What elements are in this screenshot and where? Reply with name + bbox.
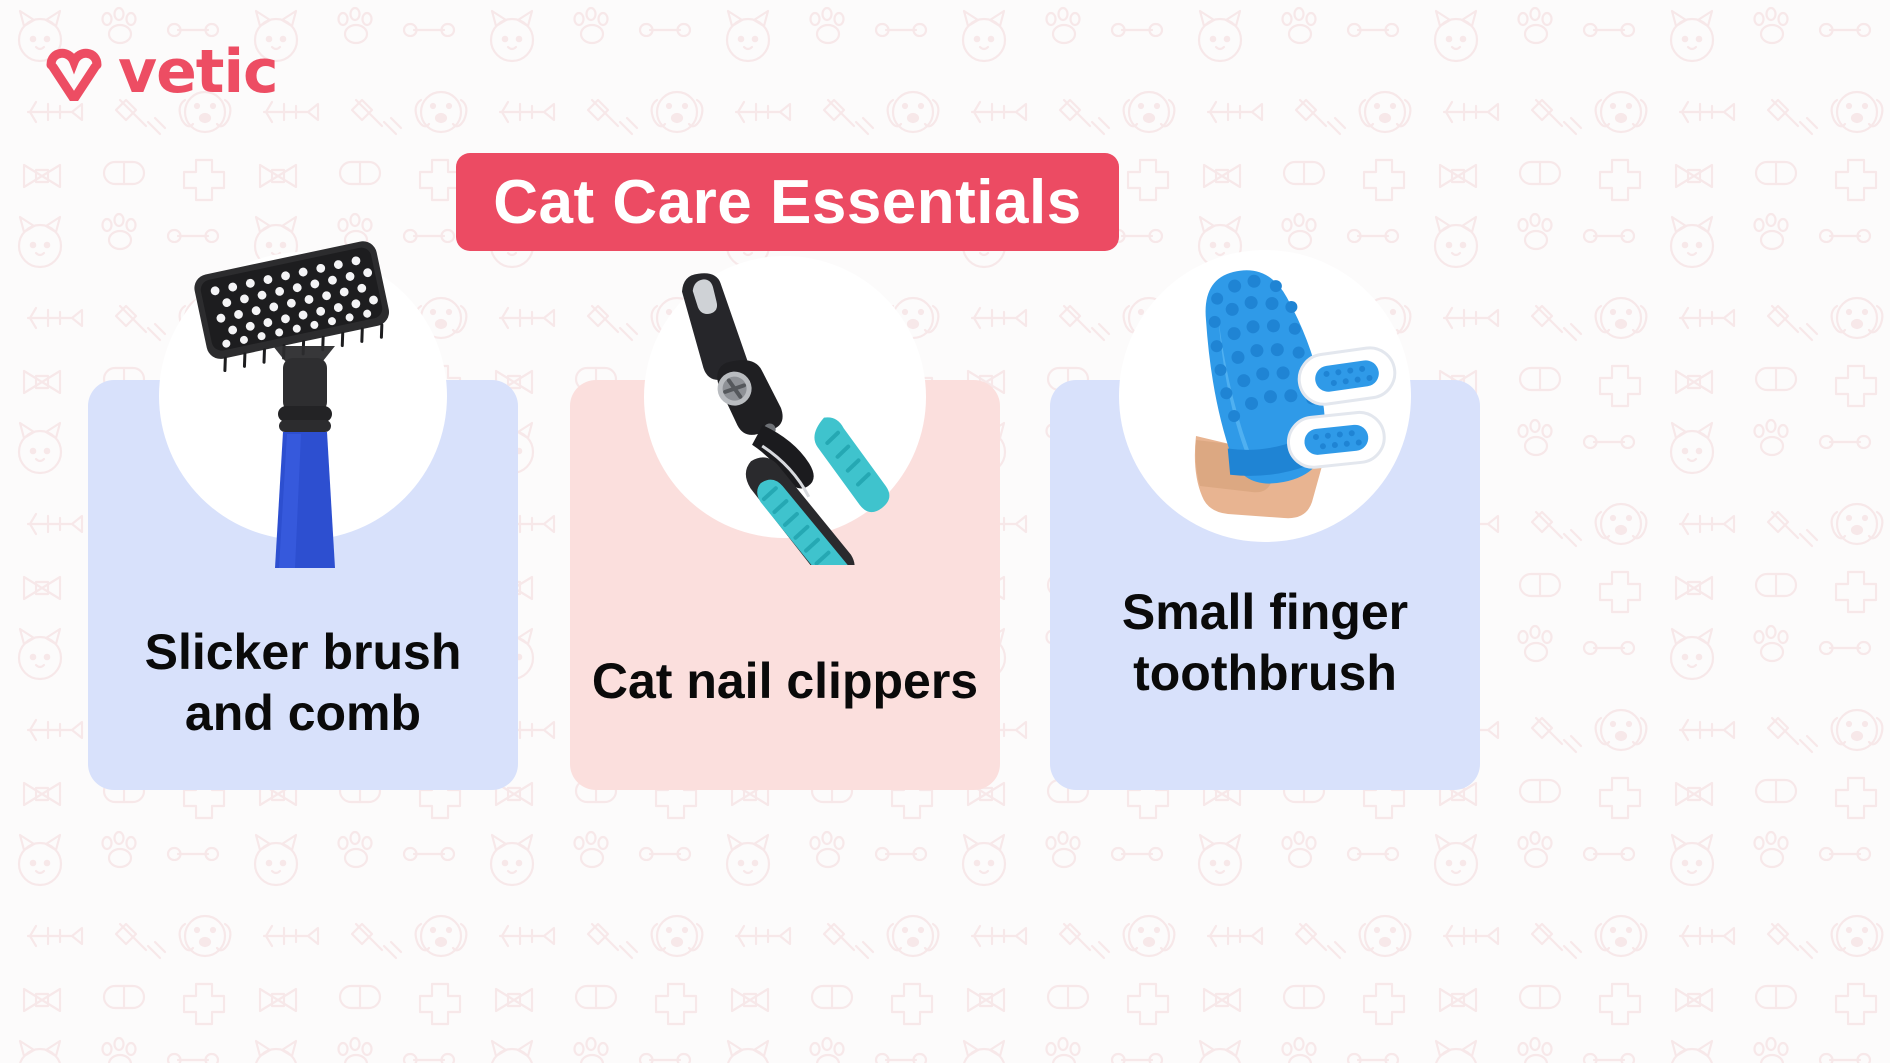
card-label: Slicker brush and comb <box>88 622 518 744</box>
page-title: Cat Care Essentials <box>493 167 1081 238</box>
poster-canvas: vetic Cat Care Essentials <box>0 0 1890 1063</box>
card-image-circle <box>159 252 447 540</box>
card-image-circle <box>1119 250 1411 542</box>
heart-v-icon <box>44 43 104 101</box>
brand-logo[interactable]: vetic <box>44 36 278 108</box>
card-image-circle <box>644 256 926 538</box>
essential-card-slicker-brush[interactable]: Slicker brush and comb <box>88 380 518 790</box>
essential-card-finger-toothbrush[interactable]: Small finger toothbrush <box>1050 380 1480 790</box>
card-label: Cat nail clippers <box>570 651 1000 712</box>
card-label: Small finger toothbrush <box>1050 582 1480 704</box>
page-title-banner: Cat Care Essentials <box>456 153 1119 251</box>
brand-name: vetic <box>118 42 278 102</box>
essential-card-nail-clippers[interactable]: Cat nail clippers <box>570 380 1000 790</box>
